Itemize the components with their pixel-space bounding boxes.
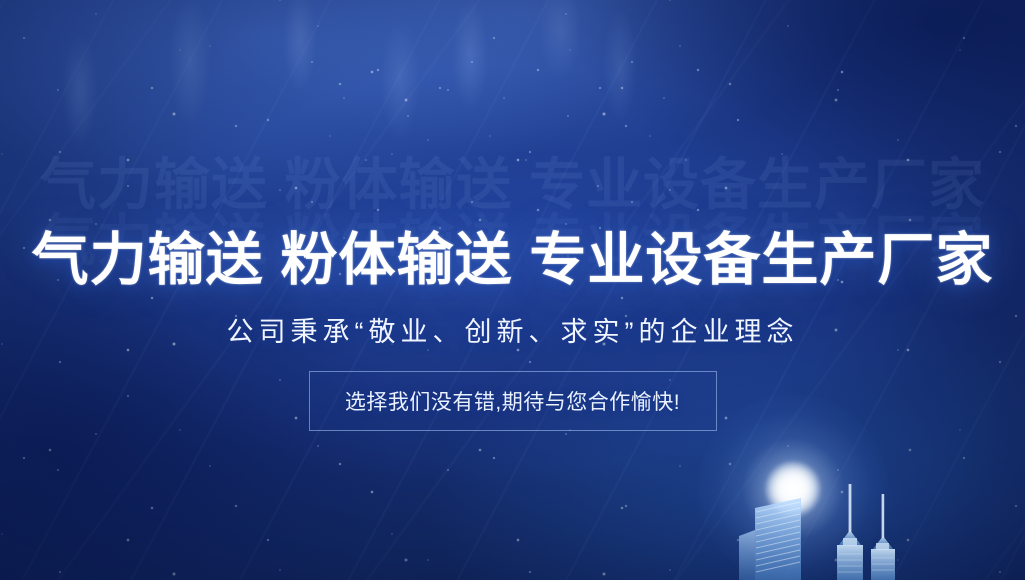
banner-subtitle: 公司秉承“敬业、创新、求实”的企业理念 [227, 310, 799, 349]
tagline-text: 选择我们没有错,期待与您合作愉快! [345, 386, 680, 416]
page-title: 气力输送 粉体输送 专业设备生产厂家 [32, 231, 994, 291]
tagline-box: 选择我们没有错,期待与您合作愉快! [309, 371, 717, 431]
banner-content: 气力输送 粉体输送 专业设备生产厂家 公司秉承“敬业、创新、求实”的企业理念 选… [0, 0, 1025, 580]
hero-banner: 气力输送 粉体输送 专业设备生产厂家 气力输送 粉体输送 专业设备生产厂家 气力… [0, 0, 1025, 580]
